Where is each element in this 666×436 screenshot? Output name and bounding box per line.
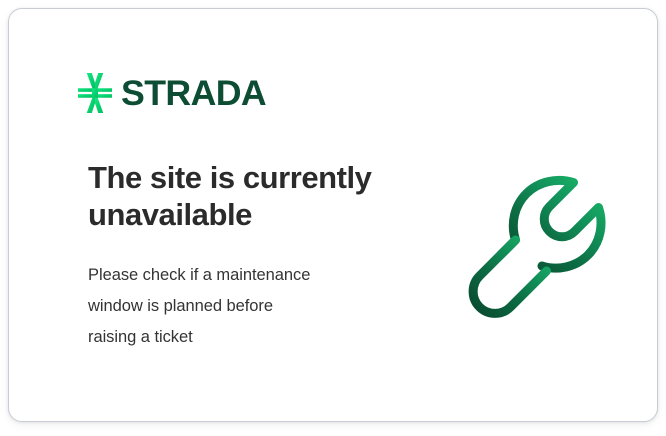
message-block: The site is currently unavailable Please… [88,159,428,353]
page-title: The site is currently unavailable [88,159,408,233]
body-copy-line: raising a ticket [88,322,388,353]
maintenance-notice-card: STRADA The site is currently unavailable… [8,8,658,422]
body-copy-line: window is planned before [88,291,388,322]
brand-lockup: STRADA [78,73,263,113]
body-copy: Please check if a maintenance window is … [88,233,388,353]
wrench-icon [461,159,627,325]
strada-asterisk-icon [78,73,112,113]
body-copy-line: Please check if a maintenance [88,260,388,291]
brand-wordmark: STRADA [121,76,266,111]
